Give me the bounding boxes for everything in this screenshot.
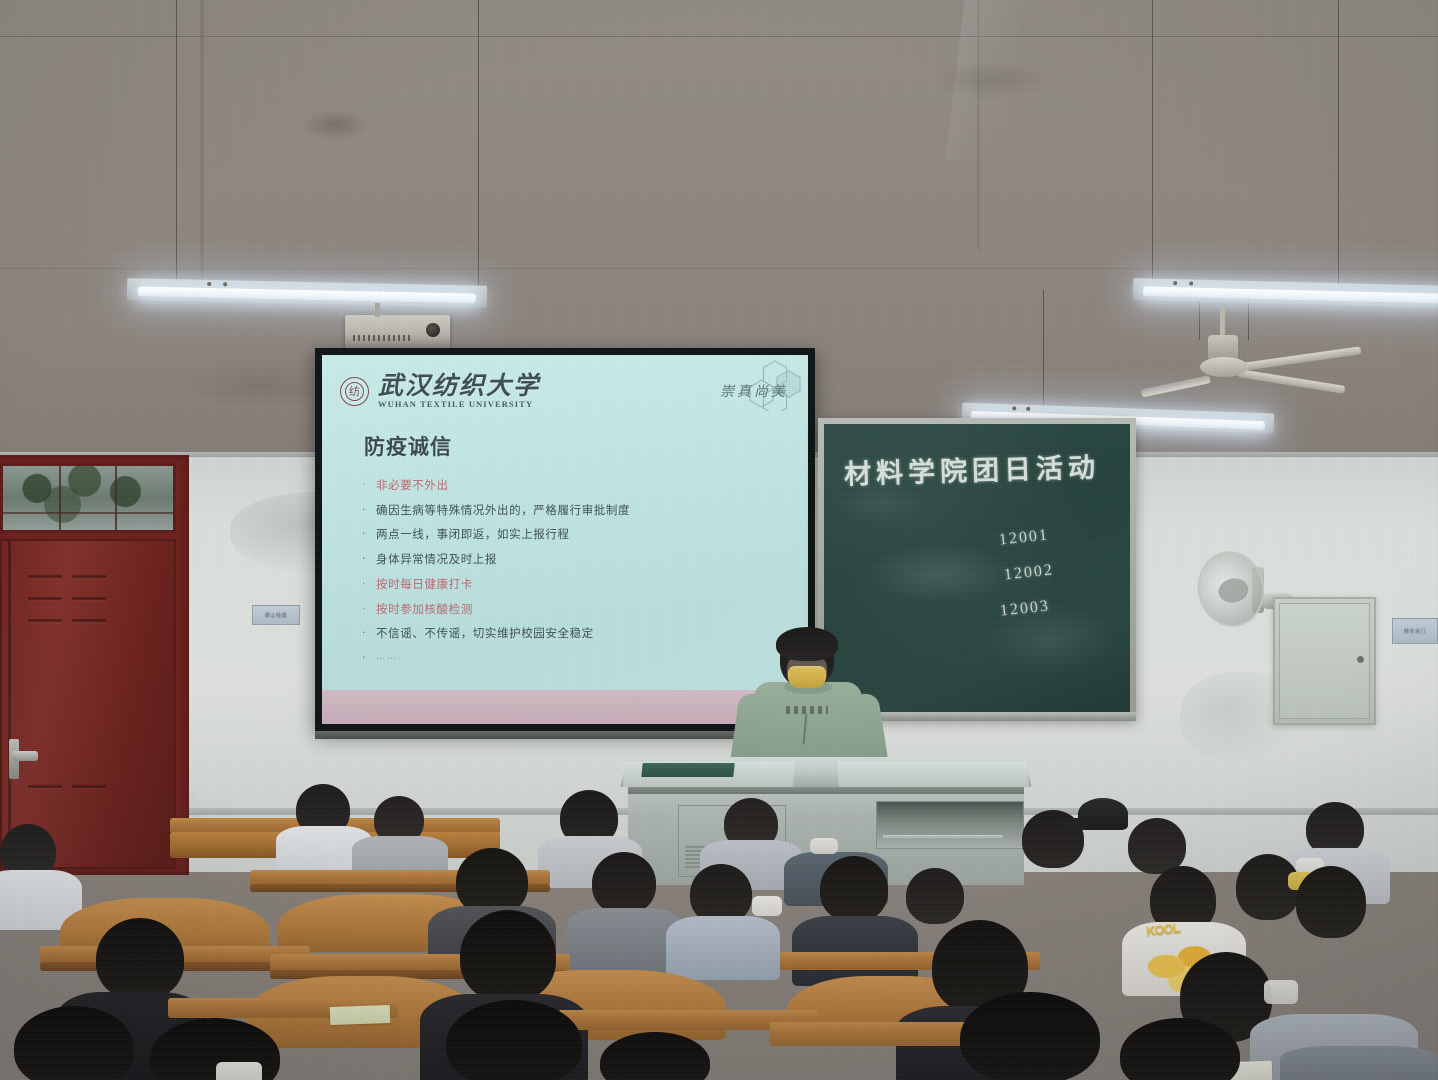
student-head: [690, 864, 752, 924]
presenter-hair: [776, 627, 838, 661]
student-head: [1296, 866, 1366, 938]
slide-bullet: · 不信谣、不传谣，切实维护校园安全稳定: [362, 627, 792, 640]
bullet-dot-icon: ·: [362, 504, 376, 516]
student-body: [1280, 1046, 1438, 1080]
bullet-text: 按时参加核酸检测: [376, 603, 473, 616]
slide-bullet: · 非必要不外出: [362, 479, 792, 492]
fan-hanger-wire: [1199, 300, 1200, 340]
slide-bullet: · 按时每日健康打卡: [362, 578, 792, 591]
light-hanger-wire: [1152, 0, 1153, 290]
bullet-text: 按时每日健康打卡: [376, 578, 473, 591]
door-transom-window: [0, 463, 176, 533]
wall-sign-right-text: 随手关门: [1404, 628, 1426, 635]
student-head: [460, 910, 556, 1002]
presenter-face-mask: [788, 666, 826, 688]
ceiling-seam-vertical-left: [200, 0, 204, 285]
audience: KOOL: [0, 770, 1438, 1080]
projector-lens: [426, 323, 440, 337]
chalkboard-class-number: 12002: [1003, 561, 1055, 584]
slide-bullet: · 确因生病等特殊情况外出的，严格履行审批制度: [362, 504, 792, 517]
chalkboard-heading: 材料学院团日活动: [844, 445, 1101, 491]
slide-bullet: · 两点一线，事闭即返，如实上报行程: [362, 528, 792, 541]
light-hanger-wire: [176, 0, 177, 292]
wall-sign-right: 随手关门: [1392, 618, 1438, 644]
seal-glyph: 纺: [341, 383, 368, 399]
light-hanger-wire: [478, 0, 479, 292]
light-hanger-wire: [1338, 0, 1339, 298]
bullet-dot-icon: ·: [362, 479, 376, 491]
fan-blade: [1241, 346, 1361, 371]
slide-bullet-list: · 非必要不外出 · 确因生病等特殊情况外出的，严格履行审批制度 · 两点一线，…: [362, 479, 792, 676]
electrical-cabinet[interactable]: [1273, 597, 1376, 725]
bullet-text: 确因生病等特殊情况外出的，严格履行审批制度: [376, 504, 630, 517]
slide-bullet: · 身体异常情况及时上报: [362, 553, 792, 566]
chalkboard-class-number: 12001: [998, 526, 1050, 549]
slide-title: 防疫诚信: [364, 431, 452, 461]
projector-mount: [375, 303, 380, 317]
bullet-dot-icon: ·: [362, 578, 376, 590]
ceiling-fan: [1150, 335, 1360, 395]
cabinet-lock[interactable]: [1357, 656, 1364, 663]
student-head: [1120, 1018, 1240, 1080]
light-hanger-wire: [1043, 290, 1044, 418]
university-name-en: WUHAN TEXTILE UNIVERSITY: [378, 400, 540, 409]
cap-brim: [1062, 818, 1088, 830]
bullet-dot-icon: ·: [362, 553, 376, 565]
student-face-mask: [216, 1062, 262, 1080]
fan-hanger-wire: [1248, 300, 1249, 340]
presenter-shirt-print: [786, 706, 828, 714]
bullet-dot-icon: ·: [362, 528, 376, 540]
notebook-paper: [330, 1005, 391, 1025]
slide-bullet: · ……: [362, 652, 792, 664]
student-face-mask: [1264, 980, 1298, 1004]
bullet-text: 两点一线，事闭即返，如实上报行程: [376, 528, 570, 541]
projector: [345, 315, 450, 348]
wall-sign-left: 禁止吸烟: [252, 605, 300, 625]
student-face-mask: [810, 838, 838, 854]
fan-blade: [1141, 375, 1211, 397]
wall-fan-cage: [1191, 545, 1271, 633]
bullet-text: 不信谣、不传谣，切实维护校园安全稳定: [376, 627, 594, 640]
bullet-dot-icon: ·: [362, 603, 376, 615]
student-head: [96, 918, 184, 1000]
bullet-text: 身体异常情况及时上报: [376, 553, 497, 566]
desk-row-front-c: [770, 1022, 970, 1046]
projector-vent: [353, 335, 413, 341]
bullet-dot-icon: ·: [362, 627, 376, 639]
student-body: [666, 916, 780, 980]
wall-sign-left-text: 禁止吸烟: [265, 612, 287, 619]
bullet-dot-icon: ·: [362, 652, 376, 664]
student-head: [906, 868, 964, 924]
hexagon-pattern-icon: [746, 359, 804, 411]
door-handle[interactable]: [12, 751, 38, 761]
classroom-photo: 禁止吸烟 随手关门 纺 武汉纺织大学 WUHAN TEXTILE UNIVERS…: [0, 0, 1438, 1080]
student-head: [960, 992, 1100, 1080]
fan-blade: [1237, 369, 1345, 394]
student-head: [600, 1032, 710, 1080]
student-head: [820, 856, 888, 922]
slide-bullet: · 按时参加核酸检测: [362, 603, 792, 616]
student-head: [446, 1000, 582, 1080]
bullet-text: ……: [376, 652, 398, 662]
slide-header: 纺 武汉纺织大学 WUHAN TEXTILE UNIVERSITY 崇真尚美: [340, 369, 794, 413]
bullet-text: 非必要不外出: [376, 479, 449, 492]
student-head: [14, 1006, 134, 1080]
student-head: [592, 852, 656, 914]
university-name-cn: 武汉纺织大学: [378, 373, 540, 398]
university-seal-icon: 纺: [340, 377, 369, 406]
student-face-mask: [752, 896, 782, 916]
